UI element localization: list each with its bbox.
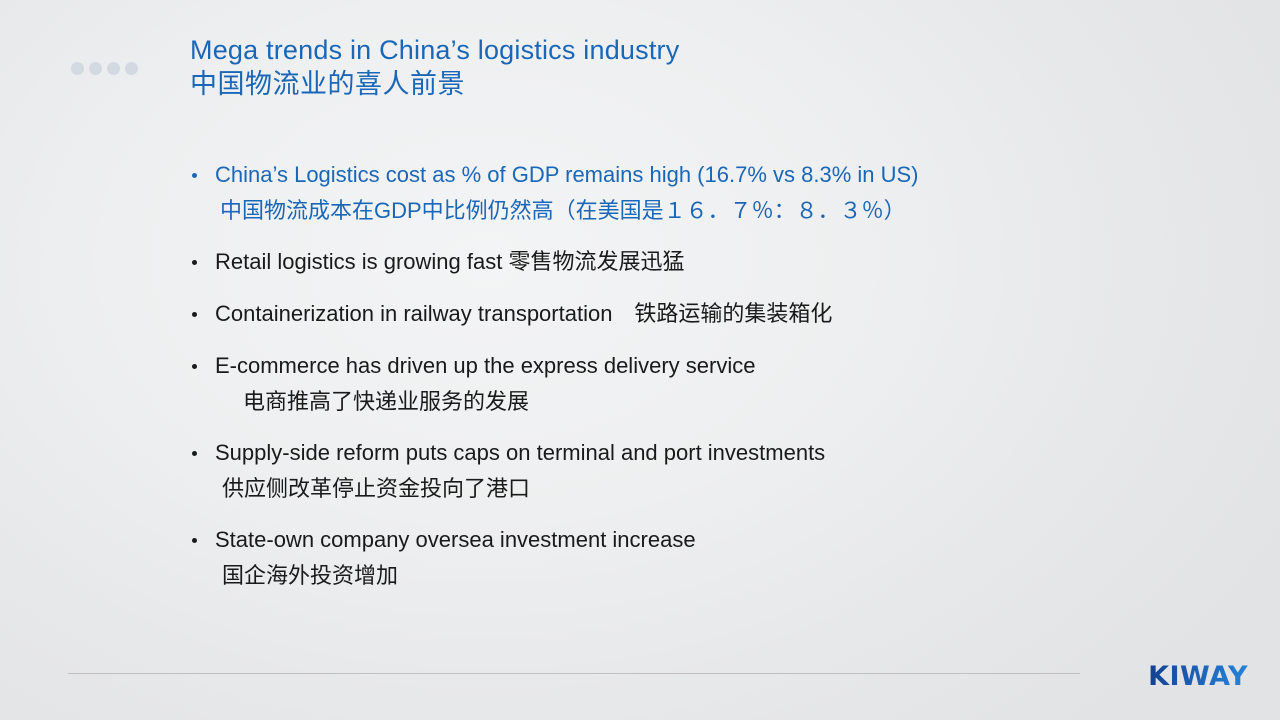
spacer-2 bbox=[188, 280, 1248, 296]
bullet-list: China’s Logistics cost as % of GDP remai… bbox=[188, 157, 1248, 594]
bullet-item-4-subtitle: 电商推高了快递业服务的发展 bbox=[188, 384, 1248, 420]
bullet-item-5-subtitle: 供应侧改革停止资金投向了港口 bbox=[188, 471, 1248, 507]
slide-title-chinese: 中国物流业的喜人前景 bbox=[190, 67, 1090, 101]
kiway-logo: KIWAY bbox=[1148, 661, 1248, 692]
decorative-dot-2 bbox=[89, 62, 102, 75]
footer-divider bbox=[68, 673, 1080, 674]
spacer-5 bbox=[188, 507, 1248, 522]
spacer-3 bbox=[188, 332, 1248, 348]
slide-canvas: Mega trends in China’s logistics industr… bbox=[0, 0, 1280, 720]
bullet-item-1-subtitle: 中国物流成本在GDP中比例仍然高（在美国是１６．７％：８．３％） bbox=[188, 193, 1248, 229]
slide-title-english: Mega trends in China’s logistics industr… bbox=[190, 33, 1090, 67]
bullet-item-5: Supply-side reform puts caps on terminal… bbox=[188, 435, 1248, 471]
bullet-item-6-subtitle: 国企海外投资增加 bbox=[188, 558, 1248, 594]
decorative-dot-4 bbox=[125, 62, 138, 75]
bullet-item-1: China’s Logistics cost as % of GDP remai… bbox=[188, 157, 1248, 193]
slide-title: Mega trends in China’s logistics industr… bbox=[190, 33, 1090, 101]
bullet-item-3: Containerization in railway transportati… bbox=[188, 296, 1248, 332]
bullet-item-2: Retail logistics is growing fast 零售物流发展迅… bbox=[188, 244, 1248, 280]
bullet-item-4: E-commerce has driven up the express del… bbox=[188, 348, 1248, 384]
decorative-dot-1 bbox=[71, 62, 84, 75]
decorative-dot-3 bbox=[107, 62, 120, 75]
decorative-dots bbox=[71, 62, 138, 75]
spacer-4 bbox=[188, 420, 1248, 435]
spacer-1 bbox=[188, 229, 1248, 244]
bullet-item-6: State-own company oversea investment inc… bbox=[188, 522, 1248, 558]
